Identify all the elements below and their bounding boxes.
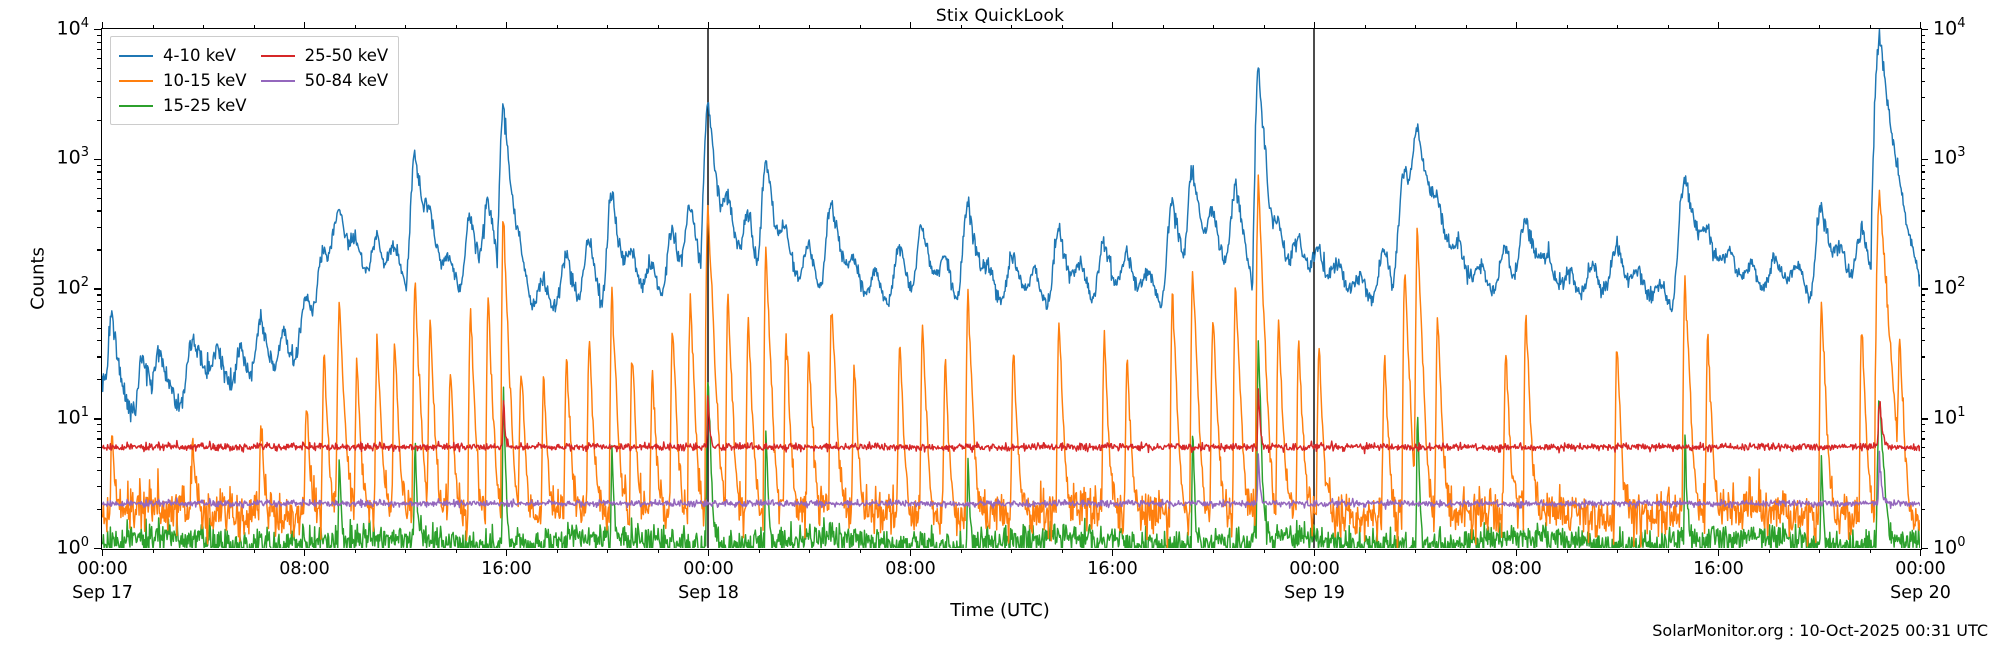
axis-tick — [97, 328, 101, 329]
axis-tick — [97, 470, 101, 471]
axis-tick — [1819, 549, 1820, 553]
y-tick-label-left: 103 — [17, 145, 89, 168]
axis-tick — [97, 68, 101, 69]
x-tick-date-label: Sep 20 — [1890, 583, 1951, 603]
legend-color-swatch — [261, 55, 295, 57]
axis-tick — [1163, 25, 1164, 29]
legend-entry-15-25-kev[interactable]: 15-25 keV — [119, 93, 247, 118]
x-tick-time-label: 00:00 — [1289, 559, 1339, 579]
legend-color-swatch — [261, 80, 295, 82]
axis-tick — [1213, 25, 1214, 29]
axis-tick — [1769, 549, 1770, 553]
axis-tick — [1921, 188, 1925, 189]
axis-tick — [97, 356, 101, 357]
axis-tick — [1718, 22, 1719, 29]
axis-tick — [97, 120, 101, 121]
axis-tick — [1668, 25, 1669, 29]
axis-tick — [97, 97, 101, 98]
axis-tick — [809, 549, 810, 553]
axis-tick — [97, 301, 101, 302]
axis-tick — [405, 25, 406, 29]
axis-tick — [1921, 418, 1928, 419]
series-line-10-15-kev — [102, 175, 1920, 548]
axis-tick — [153, 25, 154, 29]
axis-tick — [203, 25, 204, 29]
axis-tick — [1921, 379, 1925, 380]
axis-tick — [1921, 81, 1925, 82]
axis-tick — [1921, 470, 1925, 471]
y-tick-label-left: 104 — [17, 16, 89, 39]
axis-tick — [355, 25, 356, 29]
axis-tick — [1921, 49, 1925, 50]
axis-tick — [97, 486, 101, 487]
axis-tick — [1314, 22, 1315, 29]
axis-tick — [102, 549, 103, 556]
axis-tick — [910, 549, 911, 556]
axis-tick — [557, 25, 558, 29]
legend-entry-4-10-kev[interactable]: 4-10 keV — [119, 43, 247, 68]
x-tick-date-label: Sep 18 — [678, 583, 739, 603]
axis-tick — [1617, 25, 1618, 29]
axis-tick — [1921, 424, 1925, 425]
axis-tick — [94, 418, 101, 419]
axis-tick — [456, 549, 457, 553]
axis-tick — [809, 25, 810, 29]
x-tick-time-label: 16:00 — [481, 559, 531, 579]
axis-tick — [1921, 227, 1925, 228]
axis-tick — [506, 22, 507, 29]
axis-tick — [759, 549, 760, 553]
axis-tick — [97, 81, 101, 82]
axis-tick — [1921, 171, 1925, 172]
legend-label: 15-25 keV — [163, 96, 247, 115]
axis-tick — [1668, 549, 1669, 553]
axis-tick — [658, 25, 659, 29]
axis-tick — [1921, 509, 1925, 510]
axis-tick — [97, 35, 101, 36]
x-axis-title: Time (UTC) — [0, 600, 2000, 621]
axis-tick — [607, 25, 608, 29]
axis-tick — [1921, 457, 1925, 458]
legend-color-swatch — [119, 105, 153, 107]
axis-tick — [94, 288, 101, 289]
axis-tick — [97, 198, 101, 199]
x-tick-time-label: 16:00 — [1693, 559, 1743, 579]
legend-label: 25-50 keV — [305, 46, 389, 65]
axis-tick — [860, 25, 861, 29]
axis-tick — [97, 179, 101, 180]
axis-tick — [1921, 288, 1928, 289]
legend-entry-50-84-kev[interactable]: 50-84 keV — [261, 68, 389, 93]
axis-tick — [607, 549, 608, 553]
axis-tick — [94, 29, 101, 30]
axis-tick — [860, 549, 861, 553]
axis-tick — [97, 171, 101, 172]
axis-tick — [97, 188, 101, 189]
axis-tick — [304, 22, 305, 29]
axis-tick — [102, 22, 103, 29]
axis-tick — [97, 249, 101, 250]
x-tick-time-label: 00:00 — [1895, 559, 1945, 579]
axis-tick — [1921, 29, 1928, 30]
axis-tick — [658, 549, 659, 553]
axis-tick — [1921, 120, 1925, 121]
axis-tick — [97, 309, 101, 310]
axis-tick — [97, 509, 101, 510]
y-tick-label-right: 102 — [1933, 275, 1965, 298]
axis-tick — [97, 210, 101, 211]
axis-tick — [1365, 25, 1366, 29]
axis-tick — [1617, 549, 1618, 553]
axis-tick — [97, 49, 101, 50]
watermark-credit: SolarMonitor.org : 10-Oct-2025 00:31 UTC — [1652, 621, 1988, 640]
axis-tick — [1062, 549, 1063, 553]
axis-tick — [759, 25, 760, 29]
axis-tick — [1466, 25, 1467, 29]
axis-tick — [1213, 549, 1214, 553]
axis-tick — [557, 549, 558, 553]
axis-tick — [1769, 25, 1770, 29]
axis-tick — [1921, 68, 1925, 69]
axis-tick — [1011, 25, 1012, 29]
y-tick-label-left: 101 — [17, 405, 89, 428]
axis-tick — [1921, 486, 1925, 487]
legend-entry-25-50-kev[interactable]: 25-50 keV — [261, 43, 389, 68]
axis-tick — [1921, 58, 1925, 59]
axis-tick — [355, 549, 356, 553]
axis-tick — [94, 159, 101, 160]
legend-label: 4-10 keV — [163, 46, 236, 65]
axis-tick — [961, 25, 962, 29]
axis-tick — [1415, 25, 1416, 29]
y-tick-label-right: 103 — [1933, 145, 1965, 168]
y-tick-label-right: 100 — [1933, 535, 1965, 558]
axis-tick — [1921, 165, 1925, 166]
axis-tick — [254, 549, 255, 553]
page-title: Stix QuickLook — [0, 6, 2000, 26]
axis-tick — [1921, 35, 1925, 36]
y-tick-label-left: 102 — [17, 275, 89, 298]
axis-tick — [961, 549, 962, 553]
axis-tick — [97, 340, 101, 341]
x-tick-date-label: Sep 19 — [1284, 583, 1345, 603]
legend-label: 10-15 keV — [163, 71, 247, 90]
axis-tick — [1062, 25, 1063, 29]
axis-tick — [1264, 549, 1265, 553]
axis-tick — [203, 549, 204, 553]
axis-tick — [97, 424, 101, 425]
axis-tick — [708, 22, 709, 29]
axis-tick — [1920, 549, 1921, 556]
axis-tick — [97, 379, 101, 380]
axis-tick — [1415, 549, 1416, 553]
axis-tick — [1921, 431, 1925, 432]
axis-tick — [304, 549, 305, 556]
legend-column: 4-10 keV10-15 keV15-25 keV — [119, 43, 247, 118]
axis-tick — [1516, 22, 1517, 29]
y-tick-label-right: 101 — [1933, 405, 1965, 428]
legend-color-swatch — [119, 80, 153, 82]
axis-tick — [1466, 549, 1467, 553]
axis-tick — [97, 457, 101, 458]
legend-entry-10-15-kev[interactable]: 10-15 keV — [119, 68, 247, 93]
axis-tick — [1921, 159, 1928, 160]
axis-tick — [1921, 548, 1928, 549]
axis-tick — [97, 58, 101, 59]
axis-tick — [254, 25, 255, 29]
axis-tick — [1718, 549, 1719, 556]
legend-color-swatch — [119, 55, 153, 57]
axis-tick — [97, 431, 101, 432]
x-tick-time-label: 00:00 — [77, 559, 127, 579]
axis-tick — [1921, 328, 1925, 329]
axis-tick — [1112, 549, 1113, 556]
axis-tick — [97, 165, 101, 166]
x-tick-time-label: 08:00 — [1491, 559, 1541, 579]
axis-tick — [1264, 25, 1265, 29]
legend[interactable]: 4-10 keV10-15 keV15-25 keV25-50 keV50-84… — [110, 36, 399, 125]
axis-tick — [910, 22, 911, 29]
axis-tick — [1921, 317, 1925, 318]
axis-tick — [1921, 309, 1925, 310]
axis-tick — [1921, 97, 1925, 98]
x-tick-time-label: 08:00 — [279, 559, 329, 579]
axis-tick — [1567, 549, 1568, 553]
axis-tick — [153, 549, 154, 553]
axis-tick — [97, 317, 101, 318]
axis-tick — [97, 42, 101, 43]
axis-tick — [97, 447, 101, 448]
axis-tick — [1921, 438, 1925, 439]
axis-tick — [1819, 25, 1820, 29]
axis-tick — [1163, 549, 1164, 553]
axis-tick — [1365, 549, 1366, 553]
axis-tick — [1921, 42, 1925, 43]
axis-tick — [1921, 249, 1925, 250]
axis-tick — [1921, 210, 1925, 211]
axis-tick — [1920, 22, 1921, 29]
axis-tick — [1314, 549, 1315, 556]
axis-tick — [405, 549, 406, 553]
axis-tick — [1870, 25, 1871, 29]
legend-column: 25-50 keV50-84 keV — [261, 43, 389, 118]
axis-tick — [1921, 179, 1925, 180]
axis-tick — [708, 549, 709, 556]
axis-tick — [1921, 301, 1925, 302]
legend-label: 50-84 keV — [305, 71, 389, 90]
axis-tick — [1011, 549, 1012, 553]
axis-tick — [1921, 447, 1925, 448]
axis-tick — [1921, 340, 1925, 341]
axis-tick — [94, 548, 101, 549]
x-tick-time-label: 16:00 — [1087, 559, 1137, 579]
axis-tick — [1112, 22, 1113, 29]
axis-tick — [1921, 198, 1925, 199]
axis-tick — [1516, 549, 1517, 556]
axis-tick — [1921, 356, 1925, 357]
axis-tick — [97, 294, 101, 295]
x-tick-time-label: 00:00 — [683, 559, 733, 579]
axis-tick — [1921, 294, 1925, 295]
axis-tick — [1870, 549, 1871, 553]
axis-tick — [456, 25, 457, 29]
x-tick-date-label: Sep 17 — [72, 583, 133, 603]
x-tick-time-label: 08:00 — [885, 559, 935, 579]
y-tick-label-right: 104 — [1933, 16, 1965, 39]
axis-tick — [97, 438, 101, 439]
axis-tick — [97, 227, 101, 228]
y-tick-label-left: 100 — [17, 535, 89, 558]
axis-tick — [1567, 25, 1568, 29]
axis-tick — [506, 549, 507, 556]
stix-quicklook-figure: Stix QuickLook Counts Time (UTC) 1001001… — [0, 0, 2000, 650]
